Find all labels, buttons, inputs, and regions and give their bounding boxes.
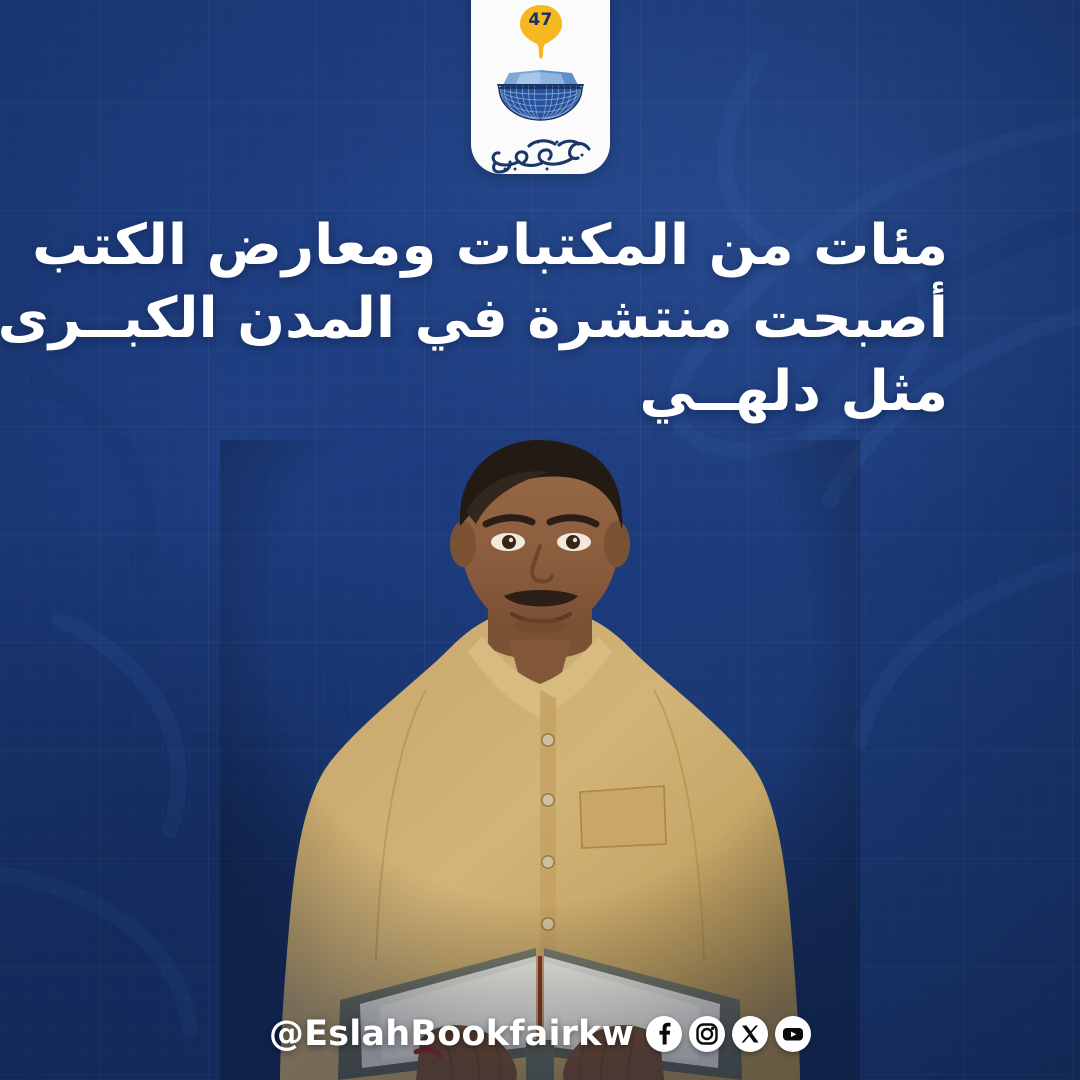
edition-badge: 47 xyxy=(515,4,567,60)
brand-logo-card: 47 xyxy=(471,0,610,174)
edition-badge-number: 47 xyxy=(515,6,567,33)
social-handle: @EslahBookfairkw xyxy=(269,1014,634,1054)
brand-calligraphy xyxy=(485,133,597,174)
headline-line-1: مئات من المكتبات ومعارض الكتب xyxy=(118,210,948,283)
instagram-icon[interactable] xyxy=(689,1016,725,1052)
footer-social-bar: @EslahBookfairkw xyxy=(0,1014,1080,1054)
youtube-icon[interactable] xyxy=(775,1016,811,1052)
book-dome-icon xyxy=(493,60,588,122)
facebook-icon[interactable] xyxy=(646,1016,682,1052)
headline-line-3: مثل دلهــي xyxy=(118,356,948,429)
headline: مئات من المكتبات ومعارض الكتب أصبحت منتش… xyxy=(118,210,948,428)
social-icons xyxy=(646,1016,811,1052)
social-post-canvas: 47 xyxy=(0,0,1080,1080)
headline-line-2: أصبحت منتشرة في المدن الكبــرى xyxy=(118,283,948,356)
x-twitter-icon[interactable] xyxy=(732,1016,768,1052)
person-photo xyxy=(220,440,860,1080)
